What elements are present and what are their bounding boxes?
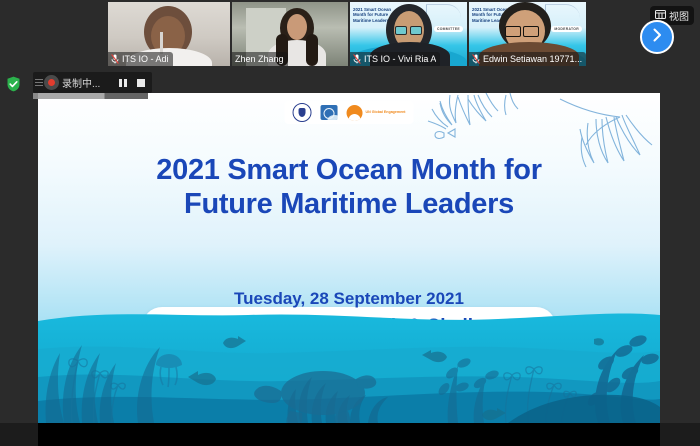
stop-icon (137, 79, 145, 87)
record-dot-icon (44, 75, 59, 90)
virtual-background-badge: MODERATOR (551, 26, 582, 32)
slide-title: 2021 Smart Ocean Month for Future Mariti… (38, 153, 660, 221)
chevron-right-icon (652, 28, 662, 47)
video-tile-participant-4[interactable]: 2021 Smart Ocean Month for Future Mariti… (469, 2, 586, 66)
toolbar-shadow (33, 93, 148, 99)
right-gutter (660, 68, 700, 446)
mic-muted-icon (472, 54, 480, 64)
un-flag-logo (321, 105, 338, 120)
mic-muted-icon (353, 54, 361, 64)
slide-title-line-1: 2021 Smart Ocean Month for (38, 153, 660, 187)
drag-grip-icon[interactable] (35, 72, 43, 93)
participant-name: Zhen Zhang (235, 52, 284, 66)
slide-title-line-2: Future Maritime Leaders (38, 187, 660, 221)
logo-strip: UN Global Engagement (285, 101, 414, 124)
underwater-illustration (38, 303, 660, 423)
participant-name-bar: ITS IO - Adi (108, 52, 173, 66)
video-tile-participant-2[interactable]: Zhen Zhang (232, 2, 348, 66)
participant-name-bar: ITS IO - Vivi Ria A (350, 52, 440, 66)
participant-name: ITS IO - Adi (122, 52, 169, 66)
shield-protect-icon[interactable] (6, 76, 21, 92)
left-gutter (0, 68, 38, 446)
next-page-button[interactable] (640, 20, 674, 54)
pause-icon (119, 79, 127, 87)
global-engagement-logo: UN Global Engagement (347, 105, 406, 121)
participant-filmstrip: ITS IO - Adi Zhen Zhang 2021 Smart (0, 0, 700, 68)
zoom-meeting-window: ITS IO - Adi Zhen Zhang 2021 Smart (0, 0, 700, 446)
pause-recording-button[interactable] (114, 72, 132, 93)
mic-muted-icon (111, 54, 119, 64)
video-tile-participant-1[interactable]: ITS IO - Adi (108, 2, 230, 66)
stop-recording-button[interactable] (132, 72, 150, 93)
participant-name: ITS IO - Vivi Ria A (364, 52, 436, 66)
virtual-background-badge: COMMITTEE (434, 26, 463, 32)
global-engagement-caption: UN Global Engagement (366, 110, 406, 114)
recording-toolbar[interactable]: 录制中... (33, 72, 152, 93)
participant-name: Edwin Setiawan 19771... (483, 52, 582, 66)
video-tile-participant-3[interactable]: 2021 Smart Ocean Month for Future Mariti… (350, 2, 467, 66)
participant-name-bar: Edwin Setiawan 19771... (469, 52, 586, 66)
slide-letterbox-bottom (38, 423, 660, 446)
shared-screen-slide: UN Global Engagement 2021 Smart Ocean Mo… (38, 93, 660, 423)
participant-name-bar: Zhen Zhang (232, 52, 288, 66)
institute-seal-logo (293, 103, 312, 122)
view-button-label: 视图 (669, 8, 689, 23)
recording-status-label: 录制中... (62, 75, 100, 90)
